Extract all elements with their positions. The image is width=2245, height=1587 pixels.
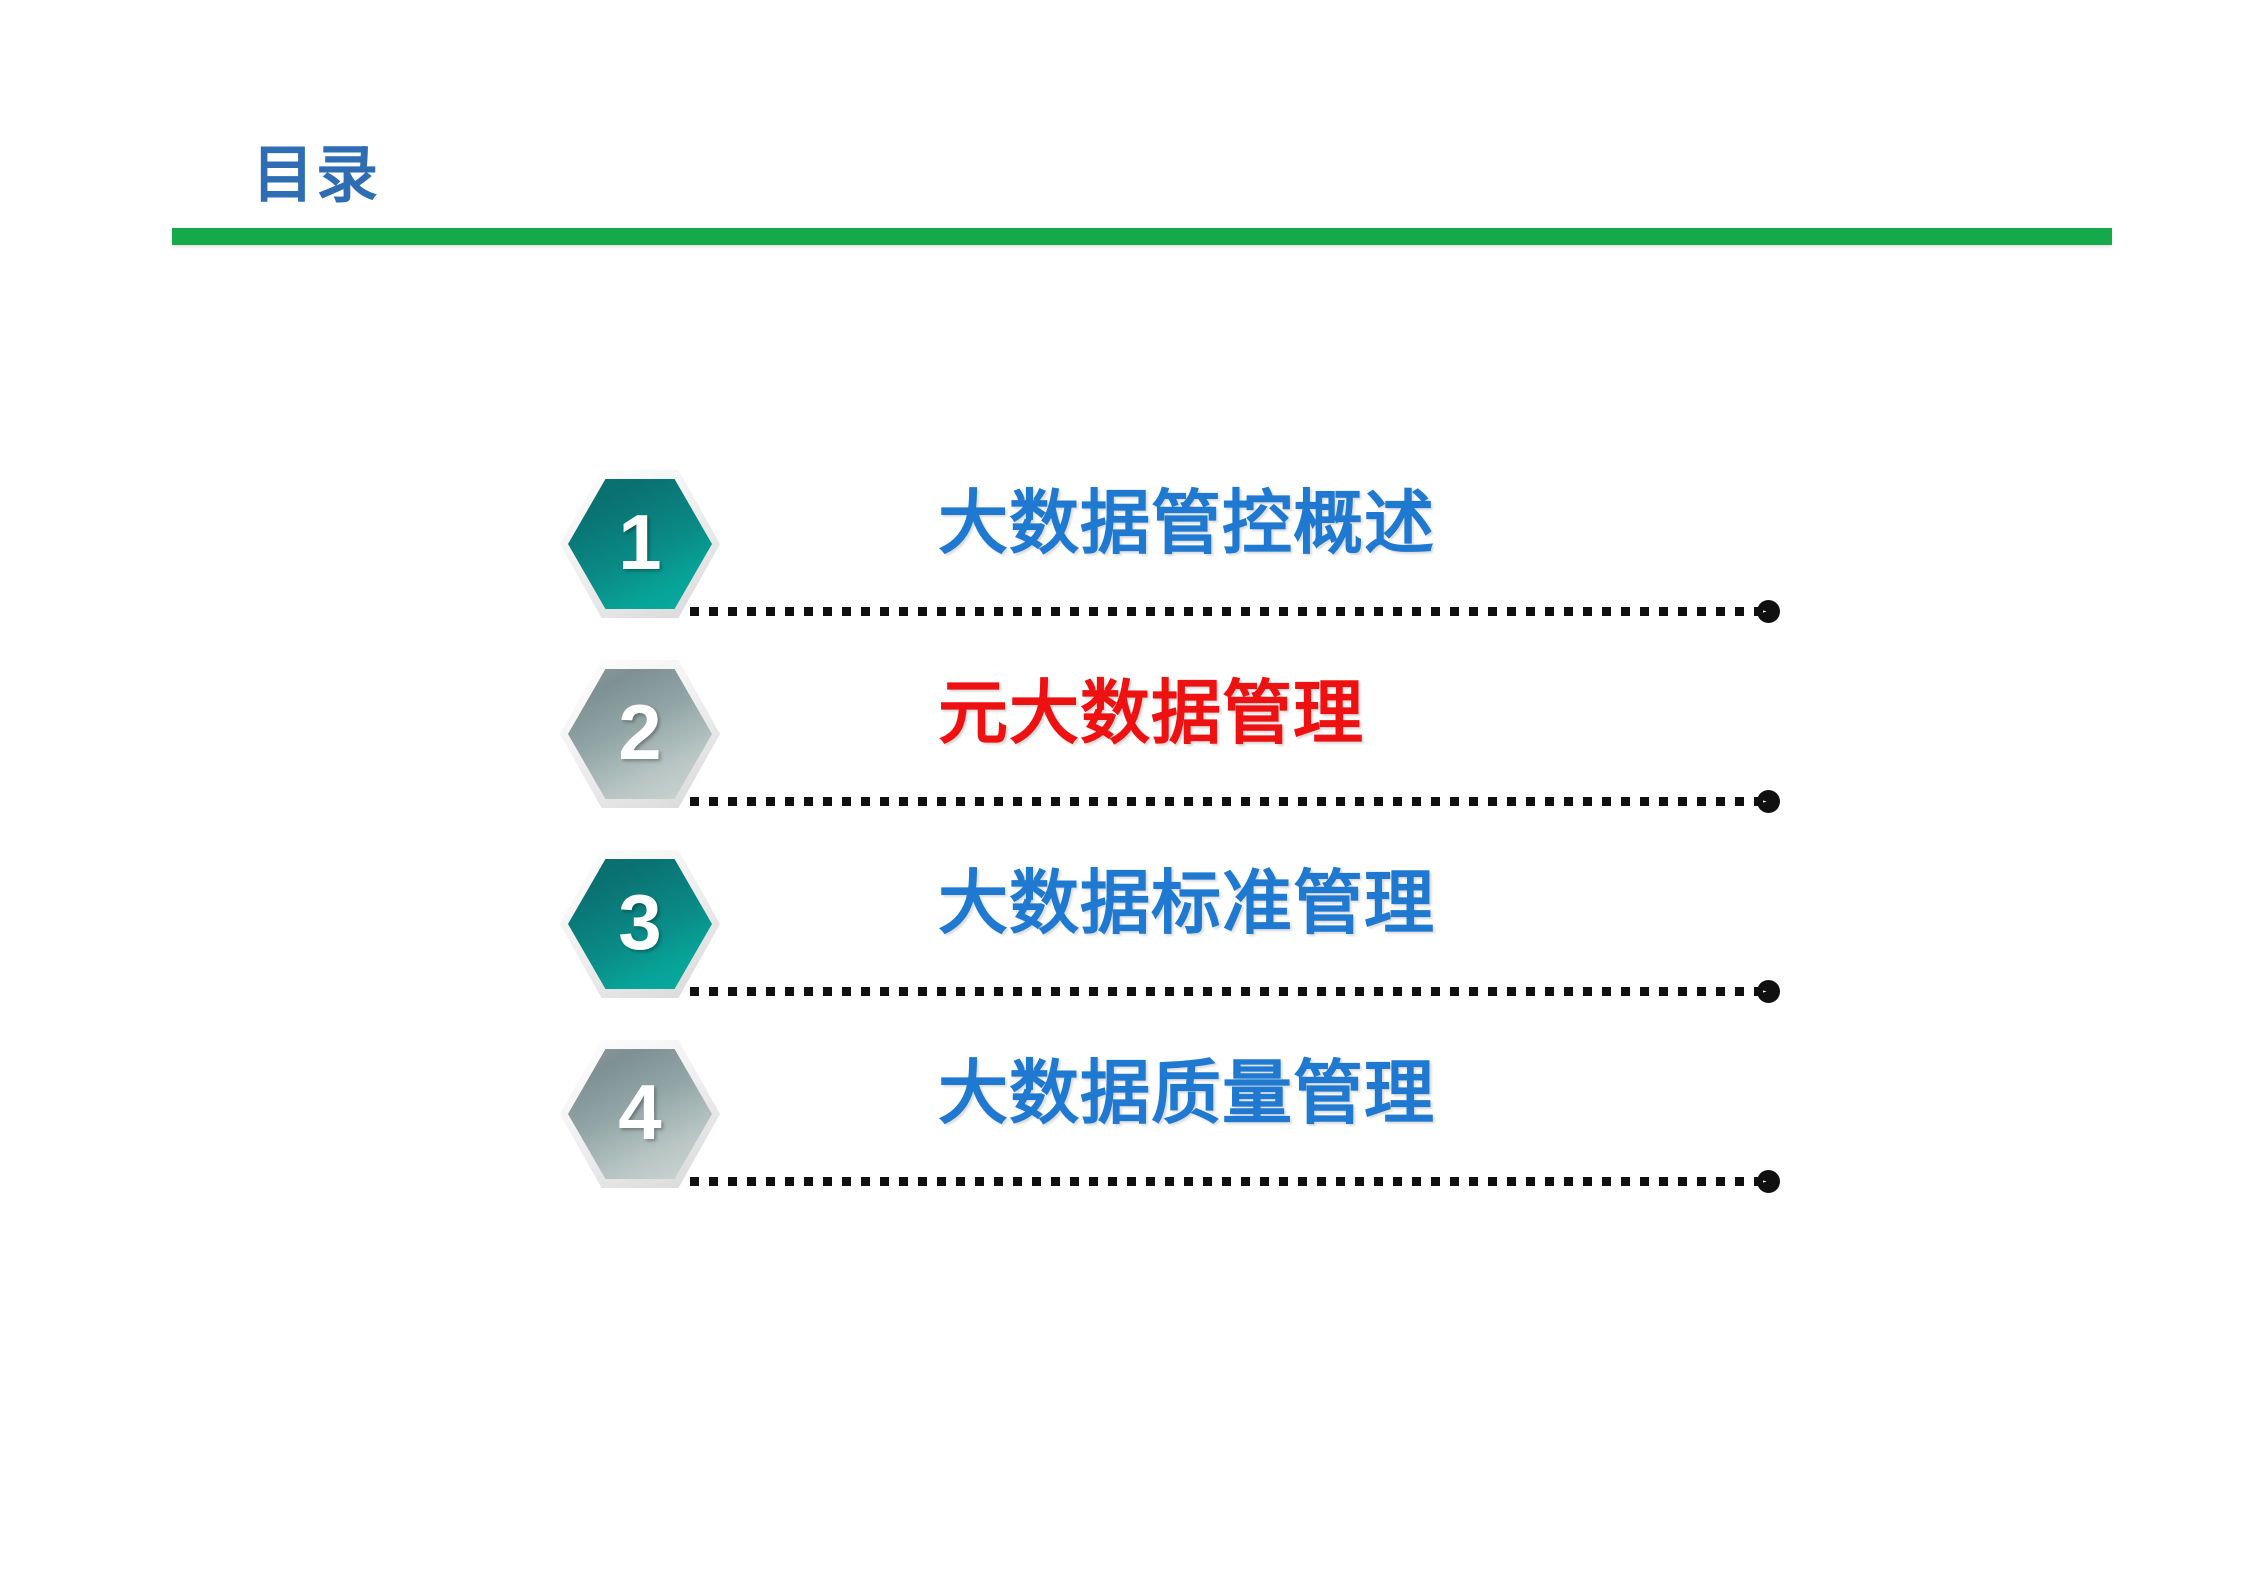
dotted-line-icon: [690, 797, 1765, 806]
toc-number-label: 1: [560, 470, 720, 618]
toc-item-label[interactable]: 大数据标准管理: [938, 868, 1435, 938]
title-divider-rule: [172, 228, 2112, 245]
toc-item-label[interactable]: 大数据质量管理: [938, 1058, 1435, 1128]
toc-row[interactable]: 1 大数据管控概述: [0, 460, 2245, 650]
toc-number-badge[interactable]: 3: [560, 850, 720, 998]
toc-list: 1 大数据管控概述 2 元大数据管理: [0, 460, 2245, 1220]
toc-number-label: 2: [560, 660, 720, 808]
toc-row[interactable]: 4 大数据质量管理: [0, 1030, 2245, 1220]
toc-item-label[interactable]: 大数据管控概述: [938, 488, 1435, 558]
toc-number-badge[interactable]: 4: [560, 1040, 720, 1188]
toc-connector-line: [690, 985, 1780, 997]
slide-canvas: 目录 1 大数据管控概述 2 元大数据管理: [0, 0, 2245, 1587]
toc-number-badge[interactable]: 1: [560, 470, 720, 618]
dotted-line-icon: [690, 607, 1765, 616]
toc-connector-line: [690, 605, 1780, 617]
slide-header: 目录: [0, 0, 2245, 260]
dotted-line-icon: [690, 987, 1765, 996]
toc-row[interactable]: 3 大数据标准管理: [0, 840, 2245, 1030]
dotted-line-icon: [690, 1177, 1765, 1186]
toc-number-label: 3: [560, 850, 720, 998]
toc-connector-line: [690, 1175, 1780, 1187]
toc-connector-line: [690, 795, 1780, 807]
toc-number-label: 4: [560, 1040, 720, 1188]
toc-item-label[interactable]: 元大数据管理: [938, 678, 1364, 748]
toc-row[interactable]: 2 元大数据管理: [0, 650, 2245, 840]
toc-number-badge[interactable]: 2: [560, 660, 720, 808]
page-title: 目录: [252, 145, 380, 207]
